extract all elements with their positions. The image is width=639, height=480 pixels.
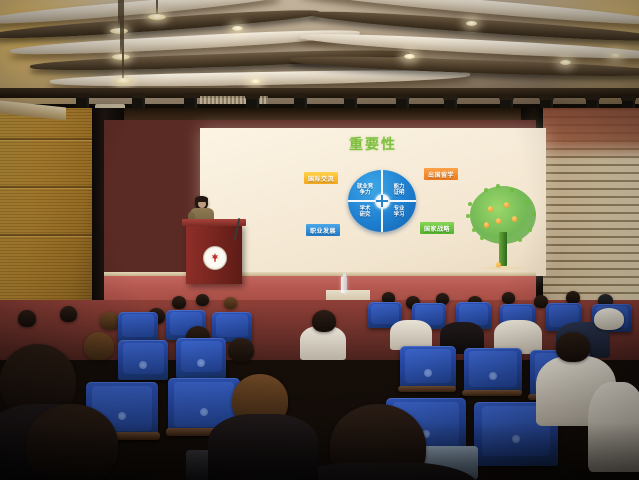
tree-ground-shadow bbox=[474, 266, 532, 270]
quadrant-label-top-right: 能力 证明 bbox=[384, 184, 414, 197]
projection-screen: 重要性 就业竞 争力 能力 证明 学术 研究 专业 学习 国际交流 出国留学 职… bbox=[200, 128, 546, 276]
left-wall bbox=[0, 108, 104, 308]
badge-career-development: 职业发展 bbox=[306, 224, 340, 236]
ceiling-downlight bbox=[560, 60, 571, 65]
ceiling-downlight bbox=[404, 54, 415, 59]
seat[interactable] bbox=[464, 348, 522, 394]
seat[interactable] bbox=[118, 340, 168, 380]
badge-national-strategy: 国家战略 bbox=[420, 222, 454, 234]
audience-head bbox=[196, 294, 209, 306]
hub-crosshair-icon bbox=[375, 194, 390, 209]
badge-international-exchange: 国际交流 bbox=[304, 172, 338, 184]
audience-head bbox=[312, 310, 336, 332]
audience-head-with-cap bbox=[594, 308, 624, 330]
quadrant-label-bottom-right: 专业 学习 bbox=[384, 206, 414, 219]
green-tree-illustration bbox=[466, 184, 540, 270]
quadrant-label-top-left: 就业竞 争力 bbox=[350, 184, 380, 197]
audience-head bbox=[224, 297, 237, 309]
ceiling-downlight bbox=[610, 53, 621, 58]
seat-armrest bbox=[462, 390, 522, 396]
audience-area bbox=[0, 286, 639, 480]
seat[interactable] bbox=[400, 346, 456, 390]
audience-head bbox=[84, 332, 114, 360]
lectern-emblem-icon bbox=[203, 246, 227, 270]
foreground-shadow bbox=[0, 422, 639, 480]
tree-trunk bbox=[499, 232, 507, 266]
audience-head bbox=[228, 338, 254, 362]
presenter-hair bbox=[195, 196, 208, 202]
pendant-light bbox=[156, 0, 158, 16]
audience-head bbox=[18, 310, 36, 327]
lectern bbox=[186, 224, 242, 284]
audience-head bbox=[172, 296, 186, 309]
audience-head bbox=[60, 306, 77, 322]
quadrant-label-bottom-left: 学术 研究 bbox=[350, 206, 380, 219]
ceiling-downlight bbox=[250, 79, 261, 84]
pendant-light bbox=[122, 0, 124, 80]
ceiling bbox=[0, 0, 639, 118]
ceiling-downlight bbox=[466, 21, 477, 26]
ceiling-downlight bbox=[232, 26, 243, 31]
audience-head bbox=[556, 332, 590, 362]
auditorium-photo: 重要性 就业竞 争力 能力 证明 学术 研究 专业 学习 国际交流 出国留学 职… bbox=[0, 0, 639, 480]
seat[interactable] bbox=[176, 338, 226, 378]
audience-head bbox=[502, 292, 515, 304]
audience-head bbox=[100, 312, 120, 330]
seat[interactable] bbox=[118, 312, 158, 342]
slide-title: 重要性 bbox=[200, 134, 546, 154]
quadrant-circle-diagram: 就业竞 争力 能力 证明 学术 研究 专业 学习 bbox=[348, 170, 416, 232]
seat-armrest bbox=[398, 386, 456, 392]
badge-study-abroad: 出国留学 bbox=[424, 168, 458, 180]
